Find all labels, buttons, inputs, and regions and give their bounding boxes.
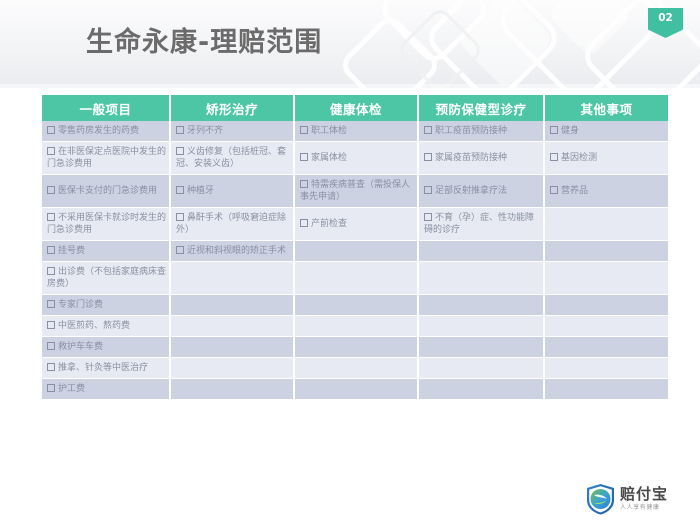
table-cell-general: 护工费 (42, 379, 170, 400)
table-cell-orthopedic: 义齿修复（包括桩冠、套冠、安装义齿） (170, 142, 294, 175)
table-cell-preventive (418, 241, 544, 262)
table-row: 中医煎药、熬药费 (42, 316, 668, 337)
table-cell-checkup (294, 316, 418, 337)
table-cell-orthopedic (170, 316, 294, 337)
table-cell-orthopedic: 鼻酐手术（呼吸窘迫症除外） (170, 208, 294, 241)
table-cell-preventive: 足部反射推拿疗法 (418, 175, 544, 208)
table-header-health-checkup: 健康体检 (294, 95, 418, 121)
table-cell-other (544, 295, 668, 316)
table-cell-label: 基因检测 (561, 153, 597, 163)
checkbox-icon[interactable] (300, 126, 308, 134)
table-cell-label: 挂号费 (58, 246, 85, 256)
table-cell-orthopedic: 种植牙 (170, 175, 294, 208)
checkbox-icon[interactable] (176, 213, 184, 221)
table-cell-label: 职工疫苗预防接种 (435, 126, 507, 136)
table-cell-label: 零售药房发生的药费 (58, 126, 139, 136)
checkbox-icon[interactable] (550, 186, 558, 194)
page-title: 生命永康-理赔范围 (86, 25, 322, 61)
checkbox-icon[interactable] (300, 153, 308, 161)
checkbox-icon[interactable] (47, 186, 55, 194)
table-cell-label: 推拿、针灸等中医治疗 (58, 363, 148, 373)
table-cell-orthopedic (170, 295, 294, 316)
checkbox-icon[interactable] (47, 363, 55, 371)
table-cell-label: 种植牙 (187, 186, 214, 196)
table-cell-label: 不育（孕）症、性功能障碍的诊疗 (424, 213, 534, 235)
checkbox-icon[interactable] (176, 126, 184, 134)
table-header-row: 一般项目 矫形治疗 健康体检 预防保健型诊疗 其他事项 (42, 95, 668, 121)
table-cell-general: 不采用医保卡就诊时发生的门急诊费用 (42, 208, 170, 241)
table-cell-label: 健身 (561, 126, 579, 136)
checkbox-icon[interactable] (176, 246, 184, 254)
table-cell-other (544, 316, 668, 337)
table-cell-other (544, 379, 668, 400)
checkbox-icon[interactable] (424, 186, 432, 194)
claims-scope-table: 一般项目 矫形治疗 健康体检 预防保健型诊疗 其他事项 零售药房发生的药费牙列不… (42, 95, 668, 400)
checkbox-icon[interactable] (550, 126, 558, 134)
table-cell-other (544, 337, 668, 358)
table-cell-label: 义齿修复（包括桩冠、套冠、安装义齿） (176, 147, 286, 169)
table-cell-label: 牙列不齐 (187, 126, 223, 136)
table-cell-general: 挂号费 (42, 241, 170, 262)
table-row: 救护车车费 (42, 337, 668, 358)
table-body: 零售药房发生的药费牙列不齐职工体检职工疫苗预防接种健身在非医保定点医院中发生的门… (42, 121, 668, 400)
logo-text-group: 赔付宝 人人享有健康 (620, 486, 668, 512)
checkbox-icon[interactable] (300, 219, 308, 227)
table-cell-orthopedic: 牙列不齐 (170, 121, 294, 142)
table-cell-preventive (418, 262, 544, 295)
table-cell-label: 鼻酐手术（呼吸窘迫症除外） (176, 213, 286, 235)
table-cell-general: 出诊费（不包括家庭病床查房费） (42, 262, 170, 295)
checkbox-icon[interactable] (47, 342, 55, 350)
table-header-general: 一般项目 (42, 95, 170, 121)
table-cell-other: 健身 (544, 121, 668, 142)
table-cell-orthopedic (170, 262, 294, 295)
checkbox-icon[interactable] (300, 180, 308, 188)
checkbox-icon[interactable] (176, 186, 184, 194)
checkbox-icon[interactable] (424, 213, 432, 221)
checkbox-icon[interactable] (47, 267, 55, 275)
table-cell-preventive: 不育（孕）症、性功能障碍的诊疗 (418, 208, 544, 241)
table-cell-checkup: 产前检查 (294, 208, 418, 241)
table-cell-checkup (294, 337, 418, 358)
table-cell-other: 营养品 (544, 175, 668, 208)
table-cell-preventive (418, 295, 544, 316)
table-cell-checkup (294, 241, 418, 262)
checkbox-icon[interactable] (47, 246, 55, 254)
table-cell-label: 近视和斜视眼的矫正手术 (187, 246, 286, 256)
table-cell-label: 救护车车费 (58, 342, 103, 352)
table-cell-preventive (418, 337, 544, 358)
table-cell-orthopedic (170, 358, 294, 379)
checkbox-icon[interactable] (176, 147, 184, 155)
checkbox-icon[interactable] (47, 126, 55, 134)
table-header-preventive-care: 预防保健型诊疗 (418, 95, 544, 121)
table-cell-other (544, 241, 668, 262)
shield-icon (586, 483, 615, 515)
table-cell-other (544, 262, 668, 295)
table-row: 挂号费近视和斜视眼的矫正手术 (42, 241, 668, 262)
table-header-orthopedic: 矫形治疗 (170, 95, 294, 121)
table-cell-general: 医保卡支付的门急诊费用 (42, 175, 170, 208)
table-cell-checkup (294, 358, 418, 379)
table-cell-preventive (418, 358, 544, 379)
table-cell-label: 护工费 (58, 384, 85, 394)
slide-header-band: 生命永康-理赔范围 02 (0, 0, 700, 88)
table-cell-preventive: 职工疫苗预防接种 (418, 121, 544, 142)
slide-canvas: 生命永康-理赔范围 02 一般项目 矫形治疗 健康体检 预防保健型诊疗 其他事项… (0, 0, 700, 525)
logo-tagline: 人人享有健康 (620, 503, 668, 512)
checkbox-icon[interactable] (47, 321, 55, 329)
logo-name: 赔付宝 (620, 486, 668, 503)
table-cell-general: 专家门诊费 (42, 295, 170, 316)
table-cell-label: 特需疾病普查（需投保人事先申请） (300, 180, 410, 202)
table-cell-label: 出诊费（不包括家庭病床查房费） (47, 267, 166, 289)
table-cell-label: 专家门诊费 (58, 300, 103, 310)
table-row: 专家门诊费 (42, 295, 668, 316)
table-cell-label: 医保卡支付的门急诊费用 (58, 186, 157, 196)
checkbox-icon[interactable] (424, 126, 432, 134)
checkbox-icon[interactable] (47, 213, 55, 221)
table-cell-checkup: 职工体检 (294, 121, 418, 142)
table-cell-general: 推拿、针灸等中医治疗 (42, 358, 170, 379)
table-cell-orthopedic: 近视和斜视眼的矫正手术 (170, 241, 294, 262)
table-cell-general: 中医煎药、熬药费 (42, 316, 170, 337)
table-row: 在非医保定点医院中发生的门急诊费用义齿修复（包括桩冠、套冠、安装义齿）家属体检家… (42, 142, 668, 175)
table-cell-other (544, 208, 668, 241)
table-cell-label: 职工体检 (311, 126, 347, 136)
table-row: 医保卡支付的门急诊费用种植牙特需疾病普查（需投保人事先申请）足部反射推拿疗法营养… (42, 175, 668, 208)
table-cell-general: 救护车车费 (42, 337, 170, 358)
table-cell-label: 足部反射推拿疗法 (435, 186, 507, 196)
table-cell-label: 家属体检 (311, 153, 347, 163)
table-row: 不采用医保卡就诊时发生的门急诊费用鼻酐手术（呼吸窘迫症除外）产前检查不育（孕）症… (42, 208, 668, 241)
table-cell-orthopedic (170, 337, 294, 358)
table-cell-general: 在非医保定点医院中发生的门急诊费用 (42, 142, 170, 175)
checkbox-icon[interactable] (47, 147, 55, 155)
checkbox-icon[interactable] (424, 153, 432, 161)
table-cell-other (544, 358, 668, 379)
checkbox-icon[interactable] (47, 300, 55, 308)
checkbox-icon[interactable] (550, 153, 558, 161)
checkbox-icon[interactable] (47, 384, 55, 392)
table-cell-preventive (418, 379, 544, 400)
table-cell-checkup (294, 379, 418, 400)
table-cell-checkup: 家属体检 (294, 142, 418, 175)
table-cell-preventive (418, 316, 544, 337)
table-row: 零售药房发生的药费牙列不齐职工体检职工疫苗预防接种健身 (42, 121, 668, 142)
table-row: 出诊费（不包括家庭病床查房费） (42, 262, 668, 295)
brand-logo: 赔付宝 人人享有健康 (586, 482, 686, 516)
table-cell-checkup (294, 295, 418, 316)
table-cell-checkup (294, 262, 418, 295)
table-cell-label: 产前检查 (311, 219, 347, 229)
table-header-other: 其他事项 (544, 95, 668, 121)
table-row: 推拿、针灸等中医治疗 (42, 358, 668, 379)
table-cell-other: 基因检测 (544, 142, 668, 175)
table-cell-orthopedic (170, 379, 294, 400)
table-cell-label: 不采用医保卡就诊时发生的门急诊费用 (47, 213, 166, 235)
table-row: 护工费 (42, 379, 668, 400)
table-cell-label: 营养品 (561, 186, 588, 196)
table-cell-label: 在非医保定点医院中发生的门急诊费用 (47, 147, 166, 169)
table-cell-preventive: 家属疫苗预防接种 (418, 142, 544, 175)
table-cell-general: 零售药房发生的药费 (42, 121, 170, 142)
table-cell-label: 中医煎药、熬药费 (58, 321, 130, 331)
table-cell-label: 家属疫苗预防接种 (435, 153, 507, 163)
table-cell-checkup: 特需疾病普查（需投保人事先申请） (294, 175, 418, 208)
